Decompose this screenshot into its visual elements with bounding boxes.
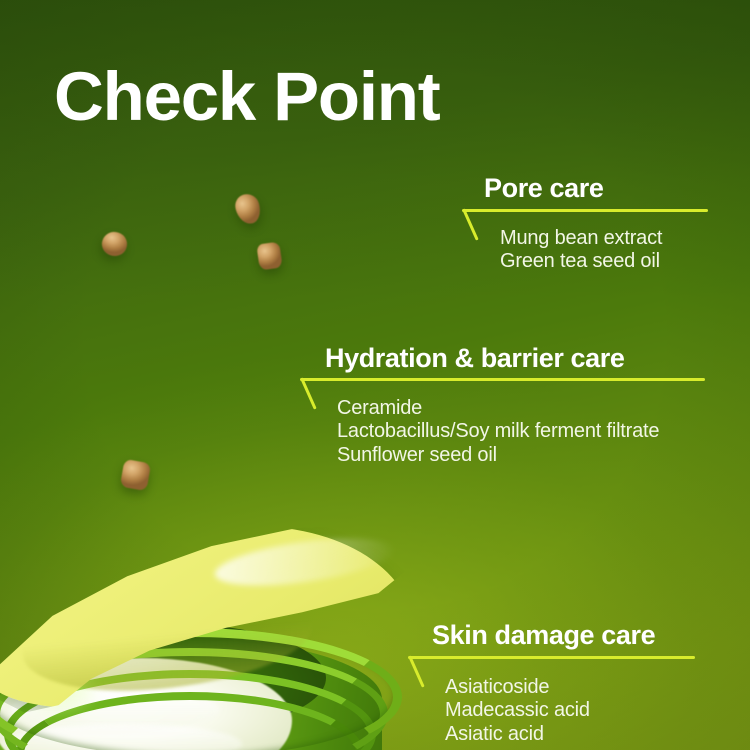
list-item: Madecassic acid xyxy=(445,699,590,721)
list-item: Sunflower seed oil xyxy=(337,444,659,466)
list-item: Ceramide xyxy=(337,397,659,419)
section-items: Ceramide Lactobacillus/Soy milk ferment … xyxy=(337,397,659,467)
section-rule-line xyxy=(408,656,695,659)
mung-bean-particle xyxy=(120,459,151,491)
list-item: Lactobacillus/Soy milk ferment filtrate xyxy=(337,420,659,442)
page-title: Check Point xyxy=(54,62,440,131)
section-items: Asiaticoside Madecassic acid Asiatic aci… xyxy=(445,676,590,746)
section-title: Hydration & barrier care xyxy=(325,345,625,372)
mung-bean-particle xyxy=(256,242,282,271)
section-title: Pore care xyxy=(484,175,603,202)
section-rule-line xyxy=(462,209,708,212)
list-item: Asiaticoside xyxy=(445,676,590,698)
spatula xyxy=(0,530,414,710)
section-items: Mung bean extract Green tea seed oil xyxy=(500,227,662,274)
check-point-infographic: Check Point Pore care Mung bean extract … xyxy=(0,0,750,750)
list-item: Asiatic acid xyxy=(445,723,590,745)
section-rule-line xyxy=(300,378,705,381)
product-photo xyxy=(0,520,460,750)
section-title: Skin damage care xyxy=(432,622,655,649)
list-item: Mung bean extract xyxy=(500,227,662,249)
list-item: Green tea seed oil xyxy=(500,250,662,272)
